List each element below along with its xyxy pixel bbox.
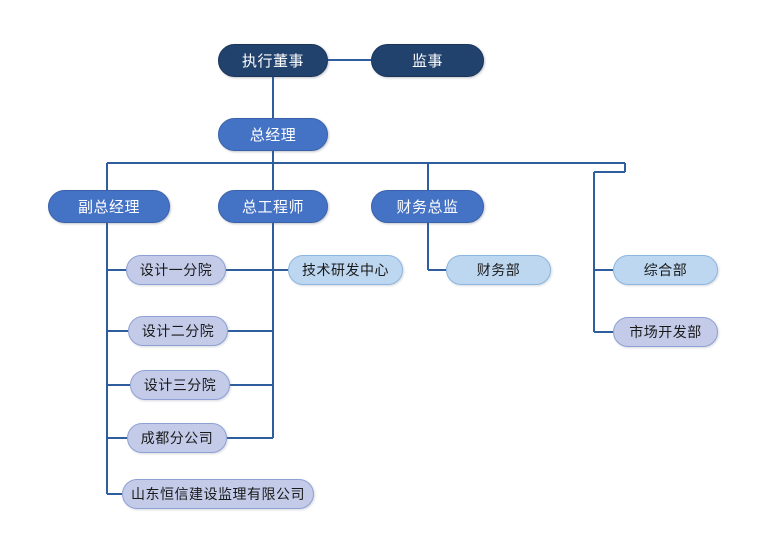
node-general-manager[interactable]: 总经理: [218, 118, 328, 151]
node-label: 执行董事: [242, 50, 304, 71]
node-shandong-supervision-company[interactable]: 山东恒信建设监理有限公司: [122, 479, 314, 509]
node-design-institute-3[interactable]: 设计三分院: [130, 370, 230, 400]
node-label: 总经理: [250, 124, 297, 145]
node-general-affairs-department[interactable]: 综合部: [613, 255, 718, 285]
node-label: 监事: [412, 50, 443, 71]
node-label: 设计三分院: [144, 375, 217, 395]
node-deputy-general-manager[interactable]: 副总经理: [48, 190, 170, 223]
node-design-institute-2[interactable]: 设计二分院: [128, 316, 228, 346]
node-label: 设计二分院: [142, 321, 215, 341]
node-label: 市场开发部: [629, 322, 702, 342]
node-rnd-center[interactable]: 技术研发中心: [288, 255, 403, 285]
node-label: 成都分公司: [141, 428, 214, 448]
node-design-institute-1[interactable]: 设计一分院: [126, 255, 226, 285]
node-label: 总工程师: [242, 196, 304, 217]
node-chengdu-branch[interactable]: 成都分公司: [127, 423, 227, 453]
node-label: 山东恒信建设监理有限公司: [131, 484, 305, 504]
node-cfo[interactable]: 财务总监: [371, 190, 484, 223]
node-exec-director[interactable]: 执行董事: [218, 44, 328, 77]
node-label: 财务部: [477, 260, 521, 280]
node-label: 财务总监: [396, 196, 458, 217]
node-label: 综合部: [644, 260, 688, 280]
node-label: 设计一分院: [140, 260, 213, 280]
node-finance-department[interactable]: 财务部: [446, 255, 551, 285]
node-market-development-department[interactable]: 市场开发部: [613, 317, 718, 347]
node-label: 技术研发中心: [302, 260, 389, 280]
node-label: 副总经理: [78, 196, 140, 217]
node-supervisor[interactable]: 监事: [371, 44, 484, 77]
node-chief-engineer[interactable]: 总工程师: [218, 190, 328, 223]
org-chart-canvas: 执行董事 监事 总经理 副总经理 总工程师 财务总监 设计一分院 设计二分院 设…: [0, 0, 777, 550]
